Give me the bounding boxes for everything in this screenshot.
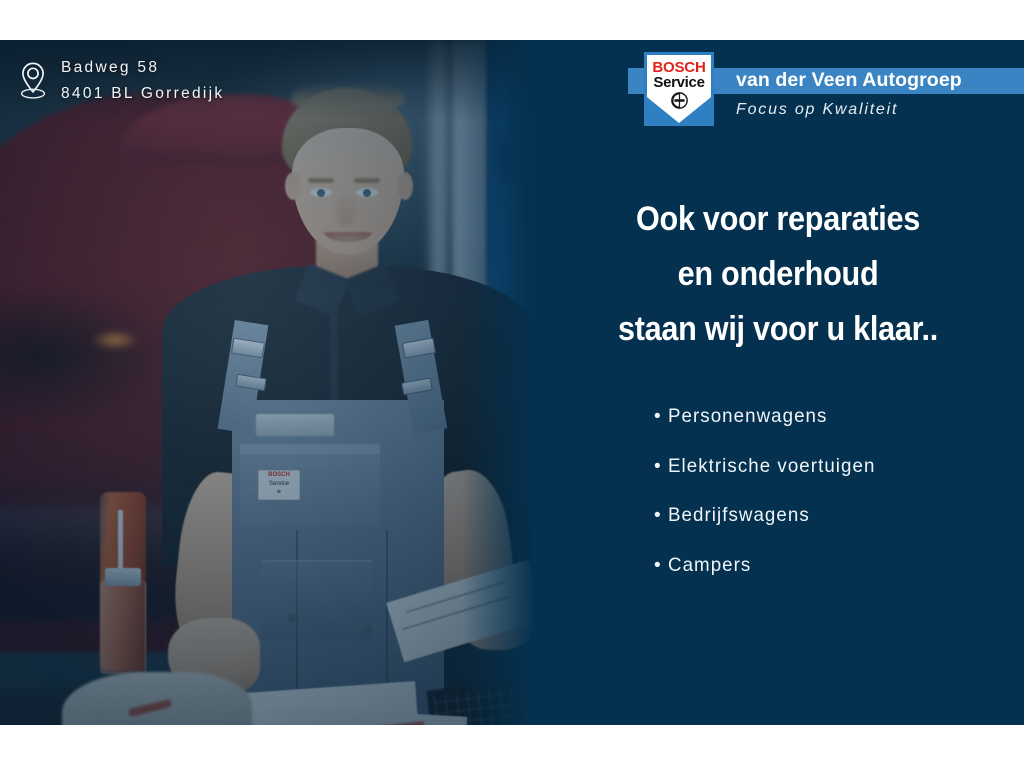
photo-tint-overlay [0,40,532,725]
address-postal-city: 8401 BL Gorredijk [61,81,224,107]
list-item-label: Campers [668,541,751,590]
headline-line-2: en onderhoud [557,247,1000,302]
address-lines: Badweg 58 8401 BL Gorredijk [61,55,224,107]
list-item: • Campers [654,541,884,591]
mechanic-photo: BOSCH Service ⊕ [0,40,532,725]
service-list: • Personenwagens • Elektrische voertuige… [654,392,884,590]
logo-shield: BOSCH Service [647,55,711,123]
address-street: Badweg 58 [61,55,224,81]
address-block: Badweg 58 8401 BL Gorredijk [18,55,224,107]
list-item: • Personenwagens [654,392,884,442]
logo-service-word: Service [653,75,704,91]
headline-line-1: Ook voor reparaties [557,192,1000,247]
bosch-service-logo: BOSCH Service [644,52,714,126]
list-item-label: Elektrische voertuigen [668,442,875,491]
photo-right-fade [462,40,532,725]
promo-banner: BOSCH Service ⊕ [0,40,1024,725]
bosch-armature-icon [671,92,688,109]
bullet-icon: • [654,393,668,442]
list-item: • Bedrijfswagens [654,491,884,541]
list-item: • Elektrische voertuigen [654,442,884,492]
list-item-label: Personenwagens [668,392,827,441]
list-item-label: Bedrijfswagens [668,491,810,540]
bullet-icon: • [654,542,668,591]
logo-bosch-word: BOSCH [652,60,705,75]
info-panel: BOSCH Service van der Veen Autogroep Foc… [532,40,1024,725]
headline: Ook voor reparaties en onderhoud staan w… [557,192,1000,357]
headline-line-3: staan wij voor u klaar.. [557,302,1000,357]
bullet-icon: • [654,492,668,541]
bullet-icon: • [654,443,668,492]
company-tagline: Focus op Kwaliteit [736,101,898,119]
location-pin-icon [18,61,48,101]
company-name: van der Veen Autogroep [736,69,962,92]
